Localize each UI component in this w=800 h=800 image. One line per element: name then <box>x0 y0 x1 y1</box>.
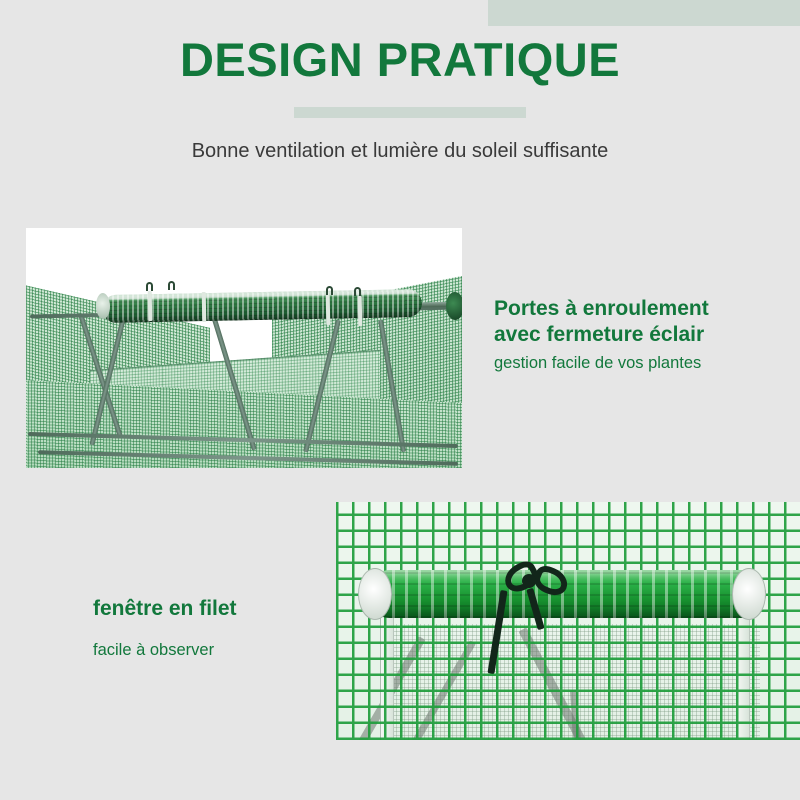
rolled-window-tube <box>366 570 766 618</box>
ribbon-tie-knot <box>522 574 536 588</box>
title-divider <box>294 107 526 118</box>
roll-strap <box>148 291 153 321</box>
callout-subtext: facile à observer <box>93 640 343 661</box>
window-roll-end-cap-left <box>358 568 392 620</box>
callout-heading: fenêtre en filet <box>93 596 343 622</box>
photo-net-window <box>336 502 800 740</box>
callout-roll-up-door: Portes à enroulement avec fermeture écla… <box>494 296 794 375</box>
callout-subtext: gestion facile de vos plantes <box>494 353 794 374</box>
page-title: DESIGN PRATIQUE <box>0 34 800 86</box>
roll-end-cap-right <box>446 292 462 320</box>
outer-green-grid-mesh <box>336 502 800 740</box>
roll-strap <box>202 292 207 322</box>
roll-hook-icon <box>326 286 333 295</box>
roll-strap <box>326 295 331 325</box>
roll-strap <box>358 296 363 326</box>
header: DESIGN PRATIQUE Bonne ventilation et lum… <box>0 0 800 200</box>
window-roll-end-cap-right <box>732 568 766 620</box>
photo-roll-up-door <box>26 228 462 468</box>
callout-net-window: fenêtre en filet facile à observer <box>93 596 343 661</box>
page-subtitle: Bonne ventilation et lumière du soleil s… <box>0 138 800 164</box>
roll-end-cap-left <box>96 293 110 319</box>
roll-hook-icon <box>168 281 175 290</box>
roll-hook-icon <box>354 287 361 296</box>
callout-heading: Portes à enroulement avec fermeture écla… <box>494 296 794 347</box>
roll-hook-icon <box>146 282 153 291</box>
